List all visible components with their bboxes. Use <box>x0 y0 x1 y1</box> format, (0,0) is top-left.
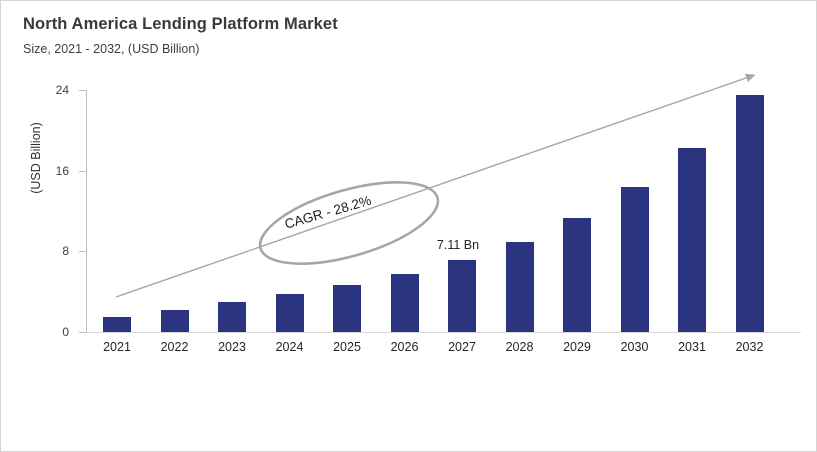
bar <box>103 317 131 332</box>
chart-figure: North America Lending Platform Market Si… <box>0 0 817 452</box>
y-tick-label-wrap: 16 <box>9 171 73 185</box>
chart-title: North America Lending Platform Market <box>23 15 338 34</box>
bar <box>506 242 534 332</box>
y-tick-mark <box>79 171 86 172</box>
y-tick-label: 16 <box>9 164 69 178</box>
y-tick-label-wrap: 8 <box>9 251 73 265</box>
bar <box>218 302 246 332</box>
trend-arrow-line <box>116 77 749 297</box>
bar <box>161 310 189 332</box>
x-tick-label: 2032 <box>715 340 785 354</box>
y-tick-label-wrap: 24 <box>9 90 73 104</box>
y-tick-mark <box>79 332 86 333</box>
cagr-ellipse-icon <box>251 166 446 280</box>
bar <box>276 294 304 332</box>
bar <box>621 187 649 332</box>
y-tick-mark <box>79 251 86 252</box>
bar-value-label: 7.11 Bn <box>437 238 479 252</box>
bar <box>333 285 361 332</box>
x-axis-line <box>86 332 801 333</box>
y-tick-label: 24 <box>9 83 69 97</box>
bar <box>448 260 476 332</box>
bar <box>736 95 764 332</box>
y-tick-mark <box>79 90 86 91</box>
chart-subtitle: Size, 2021 - 2032, (USD Billion) <box>23 42 199 56</box>
bar <box>678 148 706 332</box>
cagr-annotation-label: CAGR - 28.2% <box>283 193 373 232</box>
bar <box>391 274 419 332</box>
y-tick-label: 0 <box>9 325 69 339</box>
y-axis-line <box>86 90 87 333</box>
y-tick-label: 8 <box>9 244 69 258</box>
y-axis-title: (USD Billion) <box>29 88 43 228</box>
bar <box>563 218 591 332</box>
y-tick-label-wrap: 0 <box>9 332 73 346</box>
